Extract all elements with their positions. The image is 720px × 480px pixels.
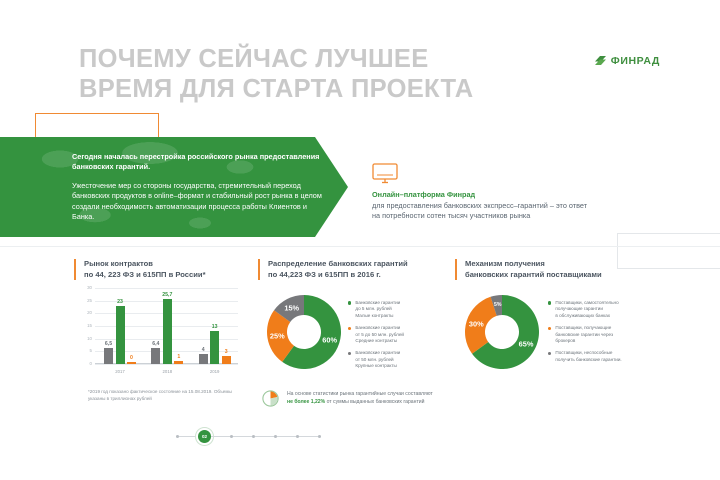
section-header-guarantee-distribution: Распределение банковских гарантий по 44,… <box>258 259 408 280</box>
section-divider <box>0 246 720 247</box>
legend-item: Поставщики, получающиебанковские гаранти… <box>548 325 658 344</box>
y-axis-tick: 15 <box>78 323 92 328</box>
section-header-acquisition-mechanism: Механизм получения банковских гарантий п… <box>455 259 602 280</box>
page-title-line2: ВРЕМЯ ДЛЯ СТАРТА ПРОЕКТА <box>79 74 549 104</box>
bar-value-label: 6,5 <box>105 341 112 347</box>
y-axis-tick: 25 <box>78 298 92 303</box>
bar-chart: 0510152025306,52306,425,7141332017201820… <box>78 288 238 376</box>
bar-value-label: 25,7 <box>162 292 172 298</box>
orange-accent-frame-top <box>35 113 159 114</box>
monitor-icon <box>372 163 398 185</box>
pagination[interactable]: 02 <box>176 430 321 443</box>
legend-color-dot <box>348 301 351 304</box>
bar-value-label: 6,4 <box>152 341 159 347</box>
y-axis-tick: 10 <box>78 336 92 341</box>
logo-text: ФИНРАД <box>611 55 660 67</box>
legend-item: Поставщики, неспособныеполучить банковск… <box>548 350 658 363</box>
pagination-connector <box>179 436 198 437</box>
legend-color-dot <box>348 352 351 355</box>
info-lead: Онлайн–платформа Финрад <box>372 190 592 201</box>
pagination-connector <box>211 436 230 437</box>
online-platform-info: Онлайн–платформа Финрад для предоставлен… <box>372 190 592 222</box>
page-title: ПОЧЕМУ СЕЙЧАС ЛУЧШЕЕ ВРЕМЯ ДЛЯ СТАРТА ПР… <box>79 44 549 104</box>
legend-item: Банковские гарантииот 5 до 50 млн. рубле… <box>348 325 446 344</box>
donut-slice-label: 65% <box>519 340 534 349</box>
donut-slice-label: 15% <box>284 303 299 312</box>
section-header-contracts-market: Рынок контрактов по 44, 223 ФЗ и 615ПП в… <box>74 259 206 280</box>
y-axis-tick: 0 <box>78 361 92 366</box>
bar-value-label: 3 <box>225 349 228 355</box>
banner-paragraph-2: Ужесточение мер со стороны государства, … <box>72 181 324 223</box>
callout-text-after: от суммы выданных банковских гарантий <box>327 399 425 405</box>
legend-label: Банковские гарантииот 5 до 50 млн. рубле… <box>355 325 404 344</box>
info-body: для предоставления банковских экспресс–г… <box>372 201 592 222</box>
legend-item: Поставщики, самостоятельнополучающие гар… <box>548 300 658 319</box>
legend-mechanism: Поставщики, самостоятельнополучающие гар… <box>548 300 658 369</box>
legend-item: Банковские гарантиидо 5 млн. рублейМалые… <box>348 300 446 319</box>
section-b-line1: Распределение банковских гарантий <box>268 259 408 270</box>
bar <box>116 306 125 364</box>
donut-slice-label: 60% <box>322 336 337 345</box>
x-axis-tick: 2019 <box>210 369 220 374</box>
bar-value-label: 23 <box>117 299 123 305</box>
pagination-dot[interactable] <box>318 435 321 438</box>
section-c-line2: банковских гарантий поставщиками <box>465 270 602 281</box>
bar <box>104 348 113 364</box>
statistics-callout: На основе статистики рынка гарантийные с… <box>262 390 512 407</box>
legend-color-dot <box>548 301 551 304</box>
brand-logo: ФИНРАД <box>594 54 660 67</box>
donut-chart-distribution: 60%25%15% <box>262 290 346 374</box>
section-a-line1: Рынок контрактов <box>84 259 206 270</box>
legend-label: Поставщики, получающиебанковские гаранти… <box>555 325 613 344</box>
legend-color-dot <box>548 352 551 355</box>
x-axis-tick: 2018 <box>163 369 173 374</box>
callout-highlight: не более 1,22% <box>287 399 325 405</box>
pagination-connector <box>299 436 318 437</box>
legend-label: Банковские гарантиидо 5 млн. рублейМалые… <box>355 300 400 319</box>
donut-slice-label: 30% <box>469 319 484 328</box>
page-title-line1: ПОЧЕМУ СЕЙЧАС ЛУЧШЕЕ <box>79 44 549 74</box>
bar <box>151 348 160 364</box>
grid-line <box>95 364 238 365</box>
y-axis-tick: 5 <box>78 348 92 353</box>
bar <box>199 354 208 364</box>
banner-text: Сегодня началась перестройка российского… <box>72 152 324 222</box>
bar <box>127 362 136 364</box>
orange-accent-frame <box>35 113 159 139</box>
pagination-connector <box>255 436 274 437</box>
donut-chart-mechanism: 65%30%5% <box>460 290 544 374</box>
callout-text: На основе статистики рынка гарантийные с… <box>287 391 433 406</box>
bar-value-label: 13 <box>212 324 218 330</box>
donut-slice-label: 5% <box>494 302 502 308</box>
bar <box>163 299 172 364</box>
bar <box>174 361 183 364</box>
donut-slice-label: 25% <box>270 332 285 341</box>
legend-item: Банковские гарантииот 50 млн. рублейКруп… <box>348 350 446 369</box>
legend-color-dot <box>348 327 351 330</box>
bar <box>210 331 219 364</box>
slide-canvas: ПОЧЕМУ СЕЙЧАС ЛУЧШЕЕ ВРЕМЯ ДЛЯ СТАРТА ПР… <box>0 0 720 480</box>
pie-chart-icon <box>262 390 279 407</box>
bar-value-label: 1 <box>177 354 180 360</box>
y-axis-tick: 30 <box>78 285 92 290</box>
decorative-outline-box <box>617 233 720 269</box>
bar-value-label: 0 <box>130 355 133 361</box>
callout-text-before: На основе статистики рынка гарантийные с… <box>287 391 433 397</box>
plot-area: 6,52306,425,714133 <box>96 288 238 364</box>
legend-label: Поставщики, неспособныеполучить банковск… <box>555 350 621 363</box>
legend-label: Поставщики, самостоятельнополучающие гар… <box>555 300 618 319</box>
section-c-line1: Механизм получения <box>465 259 602 270</box>
pagination-active-dot[interactable]: 02 <box>198 430 211 443</box>
bar <box>222 356 231 364</box>
legend-label: Банковские гарантииот 50 млн. рублейКруп… <box>355 350 400 369</box>
pagination-connector <box>233 436 252 437</box>
legend-distribution: Банковские гарантиидо 5 млн. рублейМалые… <box>348 300 446 376</box>
y-axis-tick: 20 <box>78 310 92 315</box>
banner-paragraph-1: Сегодня началась перестройка российского… <box>72 152 324 173</box>
legend-color-dot <box>548 327 551 330</box>
section-a-line2: по 44, 223 ФЗ и 615ПП в России* <box>84 270 206 281</box>
bar-value-label: 4 <box>202 347 205 353</box>
rhombus-logo-icon <box>594 54 607 67</box>
pagination-connector <box>277 436 296 437</box>
chart-footnote: *2019 год показано фактическое состояние… <box>88 388 238 403</box>
section-b-line2: по 44,223 ФЗ и 615ПП в 2016 г. <box>268 270 408 281</box>
x-axis-tick: 2017 <box>115 369 125 374</box>
